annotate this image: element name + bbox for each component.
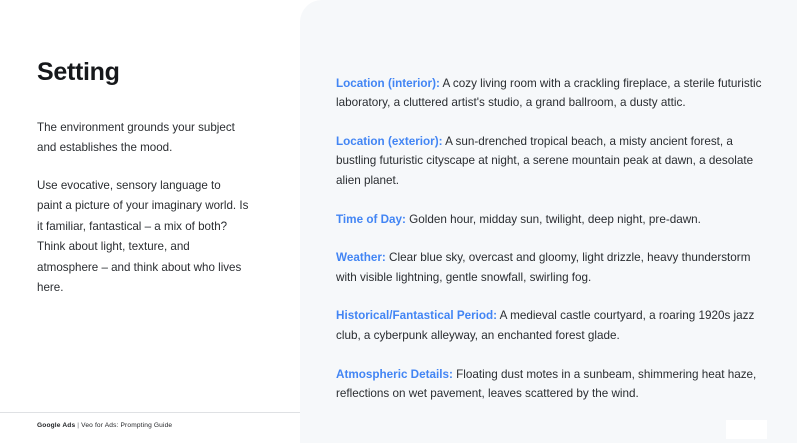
list-item: Time of Day: Golden hour, midday sun, tw… <box>336 210 774 230</box>
entry-label: Weather: <box>336 251 386 264</box>
entry-text: Golden hour, midday sun, twilight, deep … <box>406 213 701 226</box>
left-column: Setting The environment grounds your sub… <box>0 0 300 413</box>
intro-paragraph: Use evocative, sensory language to paint… <box>37 176 249 299</box>
intro-paragraph: The environment grounds your subject and… <box>37 118 249 159</box>
slide-root: Setting The environment grounds your sub… <box>0 0 797 443</box>
page-marker <box>726 420 767 439</box>
entry-label: Location (interior): <box>336 77 440 90</box>
list-item: Atmospheric Details: Floating dust motes… <box>336 365 774 404</box>
list-item: Weather: Clear blue sky, overcast and gl… <box>336 248 774 287</box>
entry-label: Location (exterior): <box>336 135 443 148</box>
entry-text: Clear blue sky, overcast and gloomy, lig… <box>336 251 750 284</box>
list-item: Location (exterior): A sun-drenched trop… <box>336 132 774 191</box>
footer-brand: Google Ads <box>37 422 75 429</box>
page-title: Setting <box>37 58 264 87</box>
entry-label: Historical/Fantastical Period: <box>336 309 497 322</box>
bottom-band <box>300 413 797 443</box>
entry-list: Location (interior): A cozy living room … <box>336 62 774 404</box>
entry-label: Time of Day: <box>336 213 406 226</box>
footer-divider <box>0 412 300 413</box>
footer: Google Ads|Veo for Ads: Prompting Guide <box>37 422 172 429</box>
list-item: Historical/Fantastical Period: A medieva… <box>336 306 774 345</box>
list-item: Location (interior): A cozy living room … <box>336 74 774 113</box>
footer-document-name: Veo for Ads: Prompting Guide <box>81 422 172 429</box>
entry-label: Atmospheric Details: <box>336 368 453 381</box>
